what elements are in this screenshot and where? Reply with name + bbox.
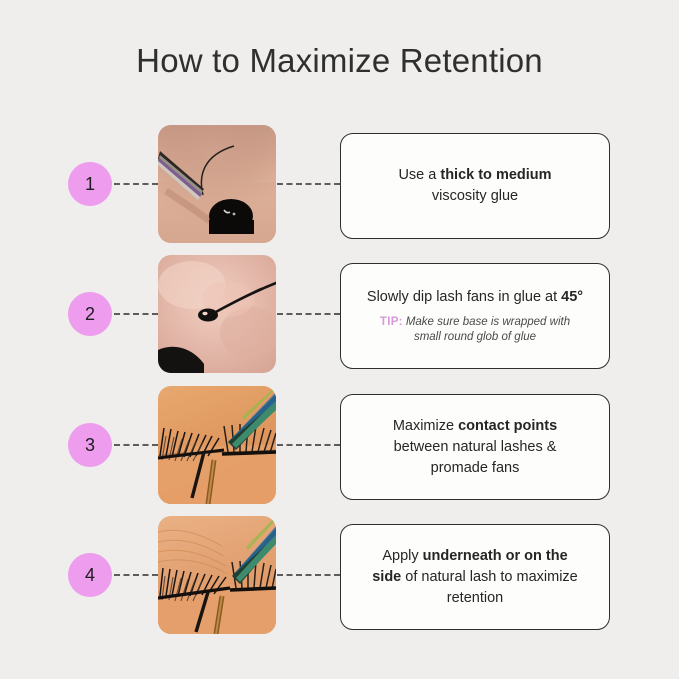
step-row-2: 2 bbox=[0, 255, 679, 373]
connector-dashed-left-3 bbox=[114, 444, 158, 446]
step-text-line-2: between natural lashes & bbox=[394, 437, 557, 458]
step-image-4 bbox=[158, 516, 276, 634]
step-number-label-1: 1 bbox=[85, 174, 95, 195]
tip-label: TIP: bbox=[380, 316, 403, 328]
step-textbox-3: Maximize contact points between natural … bbox=[340, 394, 610, 500]
step-textbox-2: Slowly dip lash fans in glue at 45° TIP:… bbox=[340, 263, 610, 369]
step-number-badge-2: 2 bbox=[68, 292, 112, 336]
connector-dashed-right-3 bbox=[277, 444, 340, 446]
step-text-bold-1: thick to medium bbox=[440, 167, 551, 183]
step-text-bold-4b: side bbox=[372, 569, 401, 585]
step-row-1: 1 bbox=[0, 125, 679, 243]
step-number-badge-3: 3 bbox=[68, 423, 112, 467]
step-image-2 bbox=[158, 255, 276, 373]
step-text-line-1: Maximize contact points bbox=[393, 416, 557, 437]
step-text-pre-2: Slowly dip lash fans in glue at bbox=[367, 289, 561, 305]
step-text-pre-1: Use a bbox=[398, 167, 440, 183]
page-title: How to Maximize Retention bbox=[0, 42, 679, 80]
connector-dashed-right-2 bbox=[277, 313, 340, 315]
step-text-post-4: of natural lash to maximize bbox=[401, 569, 578, 585]
step-text-pre-3: Maximize bbox=[393, 418, 458, 434]
step-number-label-2: 2 bbox=[85, 304, 95, 325]
step-number-badge-4: 4 bbox=[68, 553, 112, 597]
lash-applied-underneath-natural-lash-icon bbox=[158, 516, 276, 634]
step-number-badge-1: 1 bbox=[68, 162, 112, 206]
connector-dashed-left-1 bbox=[114, 183, 158, 185]
step-text-line-1: Slowly dip lash fans in glue at 45° bbox=[367, 287, 583, 308]
step-tip-line-1: TIP:Make sure base is wrapped with bbox=[380, 315, 570, 330]
step-textbox-4: Apply underneath or on the side of natur… bbox=[340, 524, 610, 630]
lash-extension-contact-points-icon bbox=[158, 386, 276, 504]
step-row-4: 4 bbox=[0, 516, 679, 634]
step-text-line-3: promade fans bbox=[431, 458, 520, 479]
step-number-label-4: 4 bbox=[85, 565, 95, 586]
step-text-line-1: Apply underneath or on the bbox=[382, 546, 567, 567]
step-text-bold-2: 45° bbox=[561, 289, 583, 305]
infographic-page: How to Maximize Retention 1 bbox=[0, 0, 679, 679]
tweezers-holding-lash-with-glue-drop-icon bbox=[158, 125, 276, 243]
tip-text-1: Make sure base is wrapped with bbox=[406, 316, 570, 328]
step-text-pre-4: Apply bbox=[382, 548, 422, 564]
step-number-label-3: 3 bbox=[85, 435, 95, 456]
step-text-bold-4a: underneath or on the bbox=[423, 548, 568, 564]
step-text-line-2: viscosity glue bbox=[432, 186, 518, 207]
step-image-3 bbox=[158, 386, 276, 504]
step-image-1 bbox=[158, 125, 276, 243]
connector-dashed-left-2 bbox=[114, 313, 158, 315]
step-tip-line-2: small round glob of glue bbox=[414, 330, 536, 345]
connector-dashed-right-4 bbox=[277, 574, 340, 576]
step-text-line-3: retention bbox=[447, 588, 503, 609]
connector-dashed-left-4 bbox=[114, 574, 158, 576]
step-text-line-1: Use a thick to medium bbox=[398, 165, 551, 186]
connector-dashed-right-1 bbox=[277, 183, 340, 185]
step-textbox-1: Use a thick to medium viscosity glue bbox=[340, 133, 610, 239]
lash-fan-dipped-in-glue-icon bbox=[158, 255, 276, 373]
step-text-line-2: side of natural lash to maximize bbox=[372, 567, 578, 588]
step-row-3: 3 bbox=[0, 386, 679, 504]
step-text-bold-3: contact points bbox=[458, 418, 557, 434]
